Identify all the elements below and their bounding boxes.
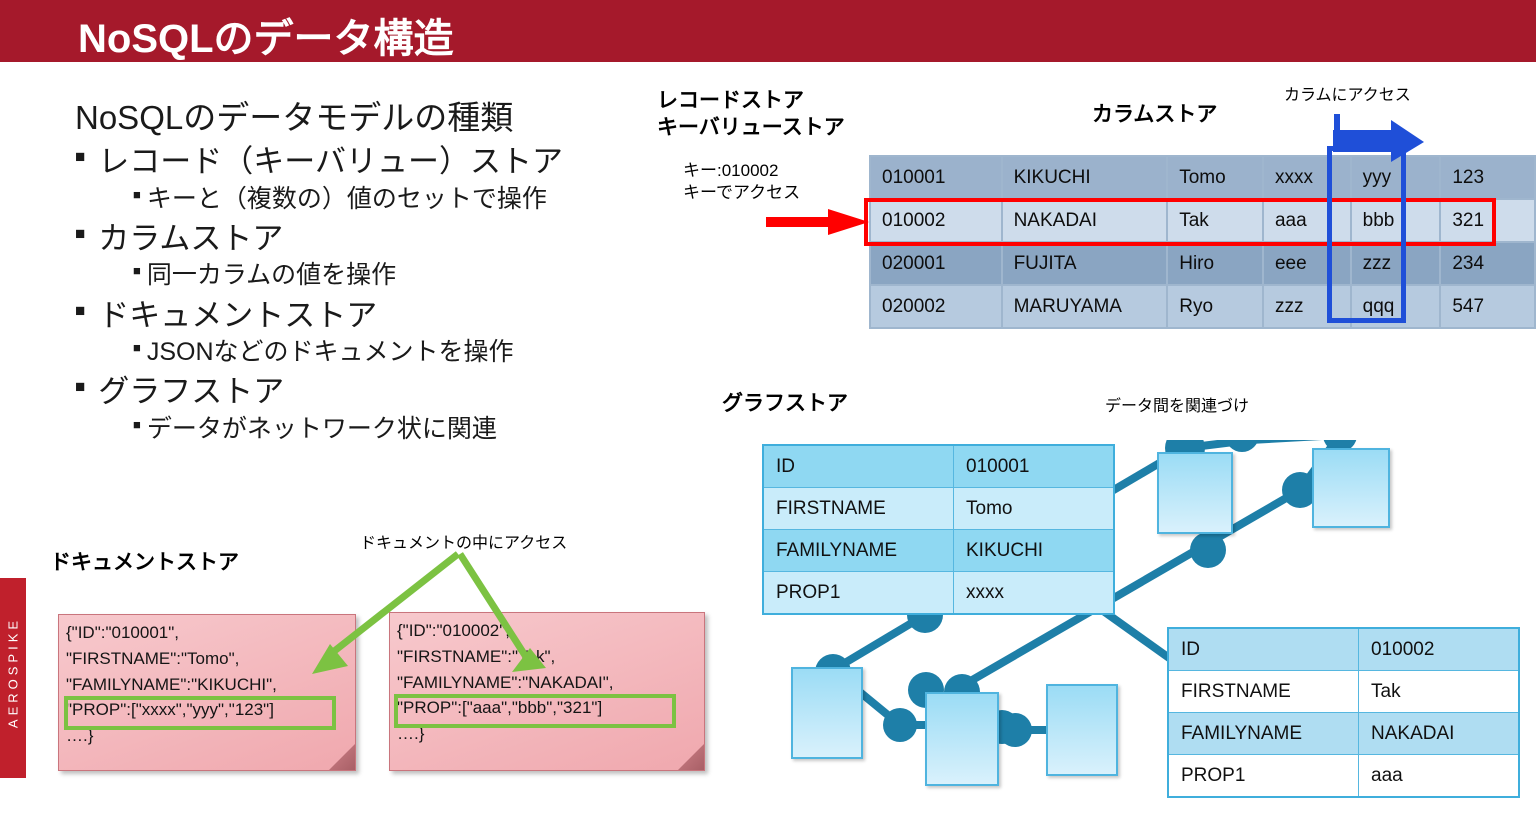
slide-title: NoSQLのデータ構造 xyxy=(78,6,454,64)
cell-key: PROP1 xyxy=(763,572,954,615)
outline-subitem-label: JSONなどのドキュメントを操作 xyxy=(147,337,514,368)
cell-value: Tomo xyxy=(954,488,1115,530)
graph-record-table-right: ID 010002 FIRSTNAME Tak FAMILYNAME NAKAD… xyxy=(1167,627,1520,798)
slide-canvas: NoSQLのデータ構造 AEROSPIKE NoSQLのデータモデルの種類 ■ … xyxy=(0,0,1536,839)
bullet-marker-icon: ■ xyxy=(75,143,85,171)
bullet-marker-icon: ■ xyxy=(133,184,141,206)
cell-first: Ryo xyxy=(1167,285,1263,328)
outline-item-graph: ■ グラフストア xyxy=(75,373,665,411)
table-row: 020002 MARUYAMA Ryo zzz qqq 547 xyxy=(870,285,1535,328)
bullet-marker-icon: ■ xyxy=(75,373,85,401)
cell-key: FIRSTNAME xyxy=(763,488,954,530)
outline-item-label: ドキュメントストア xyxy=(98,297,377,335)
graph-node-box xyxy=(791,667,863,759)
cell-value: 010002 xyxy=(1359,628,1520,671)
cell-id: 020002 xyxy=(870,285,1002,328)
bullet-marker-icon: ■ xyxy=(133,337,141,359)
graph-node-box xyxy=(1046,684,1118,776)
outline-subitem-label: キーと（複数の）値のセットで操作 xyxy=(147,184,547,215)
outline-heading: NoSQLのデータモデルの種類 xyxy=(75,98,665,138)
outline-subitem-label: データがネットワーク状に関連 xyxy=(147,414,497,445)
table-row: PROP1 xxxx xyxy=(763,572,1114,615)
graph-node-box xyxy=(1312,448,1390,528)
outline-item-record: ■ レコード（キーバリュー）ストア xyxy=(75,143,665,181)
cell-key: ID xyxy=(763,445,954,488)
cell-value: KIKUCHI xyxy=(954,530,1115,572)
cell-family: KIKUCHI xyxy=(1002,156,1168,199)
table-row: ID 010002 xyxy=(1168,628,1519,671)
cell-family: FUJITA xyxy=(1002,242,1168,285)
outline-list: NoSQLのデータモデルの種類 ■ レコード（キーバリュー）ストア ■ キーと（… xyxy=(75,98,665,445)
bullet-marker-icon: ■ xyxy=(133,260,141,282)
brand-tab: AEROSPIKE xyxy=(0,578,26,778)
outline-item-column: ■ カラムストア xyxy=(75,220,665,258)
bullet-marker-icon: ■ xyxy=(133,414,141,436)
outline-subitem-label: 同一カラムの値を操作 xyxy=(147,260,396,291)
graph-store-annotation: データ間を関連づけ xyxy=(1105,397,1249,418)
table-row: 020001 FUJITA Hiro eee zzz 234 xyxy=(870,242,1535,285)
record-store-caption: レコードストア キーバリューストア xyxy=(657,88,845,142)
cell-value: Tak xyxy=(1359,671,1520,713)
document-access-arrows-icon xyxy=(290,548,560,723)
page-fold-icon xyxy=(678,744,704,770)
brand-tab-label: AEROSPIKE xyxy=(6,573,21,773)
cell-id: 020001 xyxy=(870,242,1002,285)
cell-family: MARUYAMA xyxy=(1002,285,1168,328)
table-row: FIRSTNAME Tomo xyxy=(763,488,1114,530)
graph-node-box xyxy=(925,692,999,786)
record-store-annotation: キー:010002 キーでアクセス xyxy=(683,160,800,204)
cell-first: Tomo xyxy=(1167,156,1263,199)
outline-item-label: カラムストア xyxy=(98,220,283,258)
cell-key: FAMILYNAME xyxy=(763,530,954,572)
column-access-arrow-icon xyxy=(1331,112,1427,164)
cell-value: aaa xyxy=(1359,755,1520,798)
cell-prop3: 234 xyxy=(1440,242,1535,285)
graph-record-table-left: ID 010001 FIRSTNAME Tomo FAMILYNAME KIKU… xyxy=(762,444,1115,615)
outline-item-label: レコード（キーバリュー）ストア xyxy=(98,143,563,181)
cell-value: 010001 xyxy=(954,445,1115,488)
cell-prop3: 547 xyxy=(1440,285,1535,328)
graph-node-box xyxy=(1157,452,1233,534)
cell-value: xxxx xyxy=(954,572,1115,615)
column-store-annotation: カラムにアクセス xyxy=(1284,86,1411,107)
cell-value: NAKADAI xyxy=(1359,713,1520,755)
table-row: ID 010001 xyxy=(763,445,1114,488)
outline-subitem-document: ■ JSONなどのドキュメントを操作 xyxy=(133,337,665,368)
document-store-caption: ドキュメントストア xyxy=(50,546,239,576)
cell-first: Hiro xyxy=(1167,242,1263,285)
column-highlight xyxy=(1327,146,1406,323)
outline-subitem-record: ■ キーと（複数の）値のセットで操作 xyxy=(133,184,665,215)
table-row: FAMILYNAME KIKUCHI xyxy=(763,530,1114,572)
graph-store-caption: グラフストア xyxy=(722,387,848,417)
outline-item-document: ■ ドキュメントストア xyxy=(75,297,665,335)
table-row: FIRSTNAME Tak xyxy=(1168,671,1519,713)
cell-key: ID xyxy=(1168,628,1359,671)
bullet-marker-icon: ■ xyxy=(75,297,85,325)
cell-prop3: 123 xyxy=(1440,156,1535,199)
cell-key: FAMILYNAME xyxy=(1168,713,1359,755)
cell-key: PROP1 xyxy=(1168,755,1359,798)
outline-item-label: グラフストア xyxy=(98,373,284,411)
table-row: PROP1 aaa xyxy=(1168,755,1519,798)
cell-key: FIRSTNAME xyxy=(1168,671,1359,713)
table-row: FAMILYNAME NAKADAI xyxy=(1168,713,1519,755)
table-row: 010001 KIKUCHI Tomo xxxx yyy 123 xyxy=(870,156,1535,199)
bullet-marker-icon: ■ xyxy=(75,220,85,248)
record-access-arrow-icon xyxy=(766,207,870,237)
cell-id: 010001 xyxy=(870,156,1002,199)
column-store-caption: カラムストア xyxy=(1092,98,1217,128)
outline-subitem-column: ■ 同一カラムの値を操作 xyxy=(133,260,665,291)
outline-subitem-graph: ■ データがネットワーク状に関連 xyxy=(133,414,665,445)
